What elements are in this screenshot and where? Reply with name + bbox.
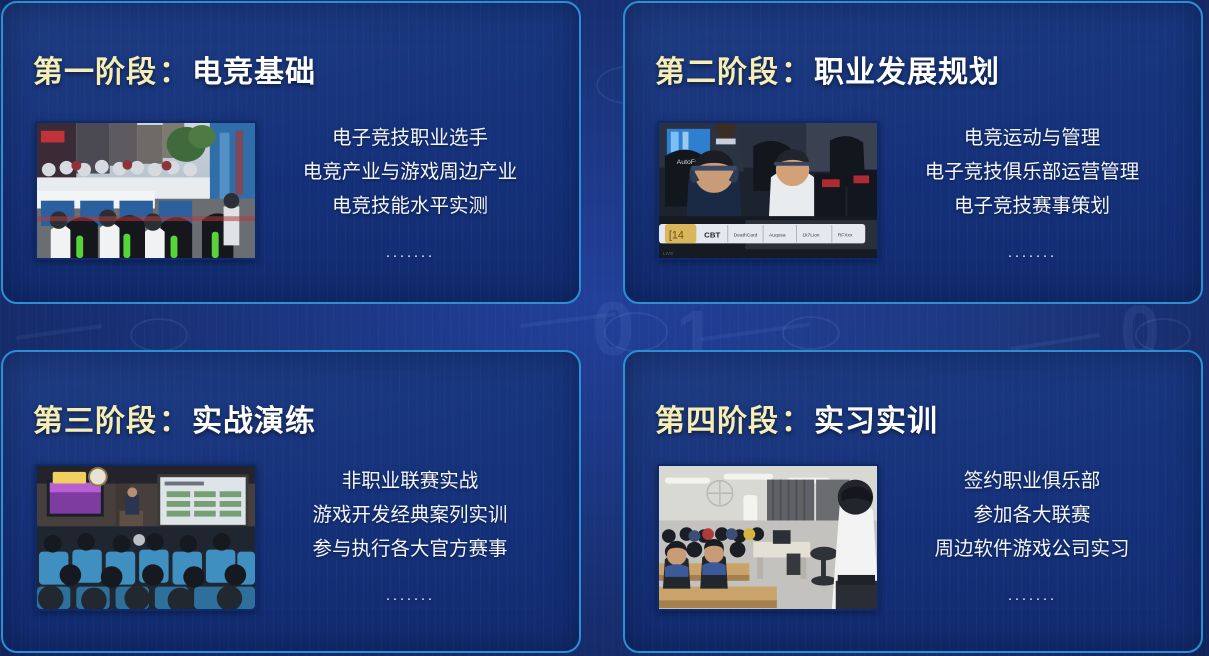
- classroom-training-photo: [659, 466, 877, 609]
- svg-text:[14: [14: [669, 230, 684, 242]
- panel-body: 电子竞技职业选手 电竞产业与游戏周边产业 电竞技能水平实测 ·······: [3, 121, 579, 273]
- svg-text:Auqusa: Auqusa: [769, 233, 786, 239]
- auditorium-lecture-photo: [37, 466, 255, 609]
- panel-body: 非职业联赛实战 游戏开发经典案列实训 参与执行各大官方赛事 ·······: [3, 464, 579, 616]
- stage-item: 电竞产业与游戏周边产业: [267, 155, 553, 189]
- stage-panel-3[interactable]: 第三阶段：实战演练: [1, 350, 581, 653]
- stage-item: 周边软件游戏公司实习: [889, 532, 1175, 566]
- stage-item-ellipsis: ·······: [889, 582, 1175, 616]
- stage-item-ellipsis: ·······: [267, 239, 553, 273]
- stage-thumbnail-3[interactable]: [35, 464, 257, 611]
- svg-text:RFXxx: RFXxx: [838, 233, 853, 239]
- stage-item: 游戏开发经典案列实训: [267, 498, 553, 532]
- stage-thumbnail-2[interactable]: AutoFu: [657, 121, 879, 260]
- panel-title: 第二阶段：职业发展规划: [655, 47, 1000, 91]
- panel-title: 第三阶段：实战演练: [33, 396, 316, 440]
- professional-esports-arena-photo: AutoFu: [659, 123, 877, 258]
- svg-text:1k7Lion: 1k7Lion: [802, 233, 819, 239]
- svg-text:CBT: CBT: [704, 231, 720, 240]
- title-colon: ：: [157, 56, 192, 89]
- stage-thumbnail-1[interactable]: [35, 121, 257, 260]
- stage-label: 第一阶段: [33, 56, 157, 89]
- svg-text:LIVE: LIVE: [663, 251, 674, 257]
- stage-panel-4[interactable]: 第四阶段：实习实训: [623, 350, 1203, 653]
- title-colon: ：: [779, 56, 814, 89]
- stage-panel-1[interactable]: 第一阶段：电竞基础: [1, 1, 581, 304]
- outdoor-esports-tournament-photo: [37, 123, 255, 258]
- stage-item: 电子竞技职业选手: [267, 121, 553, 155]
- stage-thumbnail-4[interactable]: [657, 464, 879, 611]
- stage-topic: 电竞基础: [192, 56, 316, 89]
- title-colon: ：: [157, 405, 192, 438]
- stage-item-ellipsis: ·······: [267, 582, 553, 616]
- svg-text:DeathCard: DeathCard: [734, 233, 758, 239]
- panel-title: 第一阶段：电竞基础: [33, 47, 316, 91]
- stage-item-ellipsis: ·······: [889, 239, 1175, 273]
- stage-panel-2[interactable]: 第二阶段：职业发展规划 AutoFu: [623, 1, 1203, 304]
- stage-item: 非职业联赛实战: [267, 464, 553, 498]
- stage-item-list-2: 电竞运动与管理 电子竞技俱乐部运营管理 电子竞技赛事策划 ·······: [879, 121, 1201, 273]
- stage-item: 电竞运动与管理: [889, 121, 1175, 155]
- stage-panel-grid: 第一阶段：电竞基础: [0, 0, 1209, 656]
- panel-body: AutoFu: [625, 121, 1201, 273]
- stage-item-list-4: 签约职业俱乐部 参加各大联赛 周边软件游戏公司实习 ·······: [879, 464, 1201, 616]
- panel-title: 第四阶段：实习实训: [655, 396, 938, 440]
- stage-item: 签约职业俱乐部: [889, 464, 1175, 498]
- stage-item-list-1: 电子竞技职业选手 电竞产业与游戏周边产业 电竞技能水平实测 ·······: [257, 121, 579, 273]
- stage-topic: 实战演练: [192, 405, 316, 438]
- stage-item: 电子竞技赛事策划: [889, 189, 1175, 223]
- stage-item: 电子竞技俱乐部运营管理: [889, 155, 1175, 189]
- stage-label: 第四阶段: [655, 405, 779, 438]
- stage-label: 第三阶段: [33, 405, 157, 438]
- title-colon: ：: [779, 405, 814, 438]
- stage-item: 参与执行各大官方赛事: [267, 532, 553, 566]
- stage-item: 参加各大联赛: [889, 498, 1175, 532]
- stage-topic: 职业发展规划: [814, 56, 1000, 89]
- stage-topic: 实习实训: [814, 405, 938, 438]
- stage-label: 第二阶段: [655, 56, 779, 89]
- stage-item-list-3: 非职业联赛实战 游戏开发经典案列实训 参与执行各大官方赛事 ·······: [257, 464, 579, 616]
- panel-body: 签约职业俱乐部 参加各大联赛 周边软件游戏公司实习 ·······: [625, 464, 1201, 616]
- stage-item: 电竞技能水平实测: [267, 189, 553, 223]
